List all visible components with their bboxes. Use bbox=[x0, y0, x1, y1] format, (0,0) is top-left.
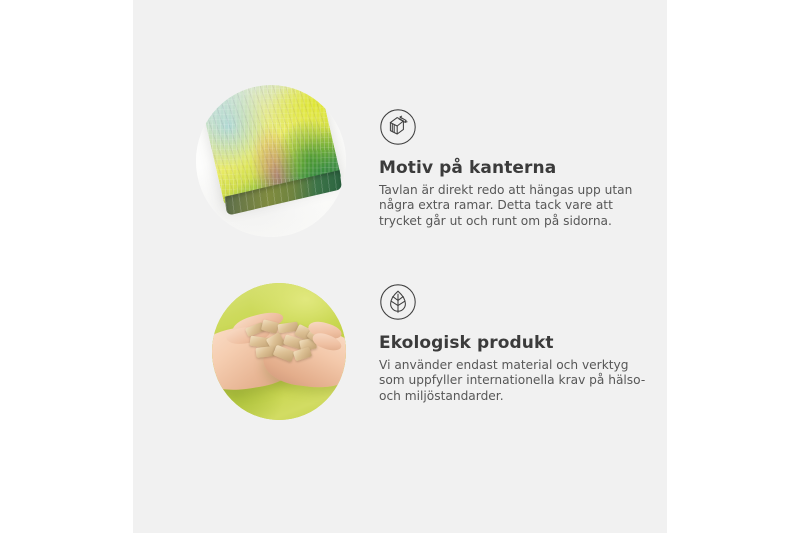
feature-description: Vi använder endast material och verktyg … bbox=[379, 358, 651, 404]
leaf-icon bbox=[379, 283, 417, 321]
feature-text-canvas-edges: Motiv på kanterna Tavlan är direkt redo … bbox=[379, 108, 659, 229]
wood-chip bbox=[273, 345, 296, 363]
feature-title: Ekologisk produkt bbox=[379, 333, 659, 353]
feature-text-eco-product: Ekologisk produkt Vi använder endast mat… bbox=[379, 283, 659, 404]
feature-description: Tavlan är direkt redo att hängas upp uta… bbox=[379, 183, 651, 229]
wood-chip bbox=[256, 346, 275, 358]
wood-chip bbox=[293, 347, 312, 362]
canvas-edge-print-icon bbox=[379, 108, 417, 146]
product-feature-infographic: Motiv på kanterna Tavlan är direkt redo … bbox=[0, 0, 800, 533]
wood-chip bbox=[261, 319, 279, 334]
canvas-corner-photo bbox=[196, 85, 346, 237]
feature-title: Motiv på kanterna bbox=[379, 158, 659, 178]
hands-with-wood-chips-photo bbox=[212, 283, 346, 420]
content-panel bbox=[133, 0, 667, 533]
